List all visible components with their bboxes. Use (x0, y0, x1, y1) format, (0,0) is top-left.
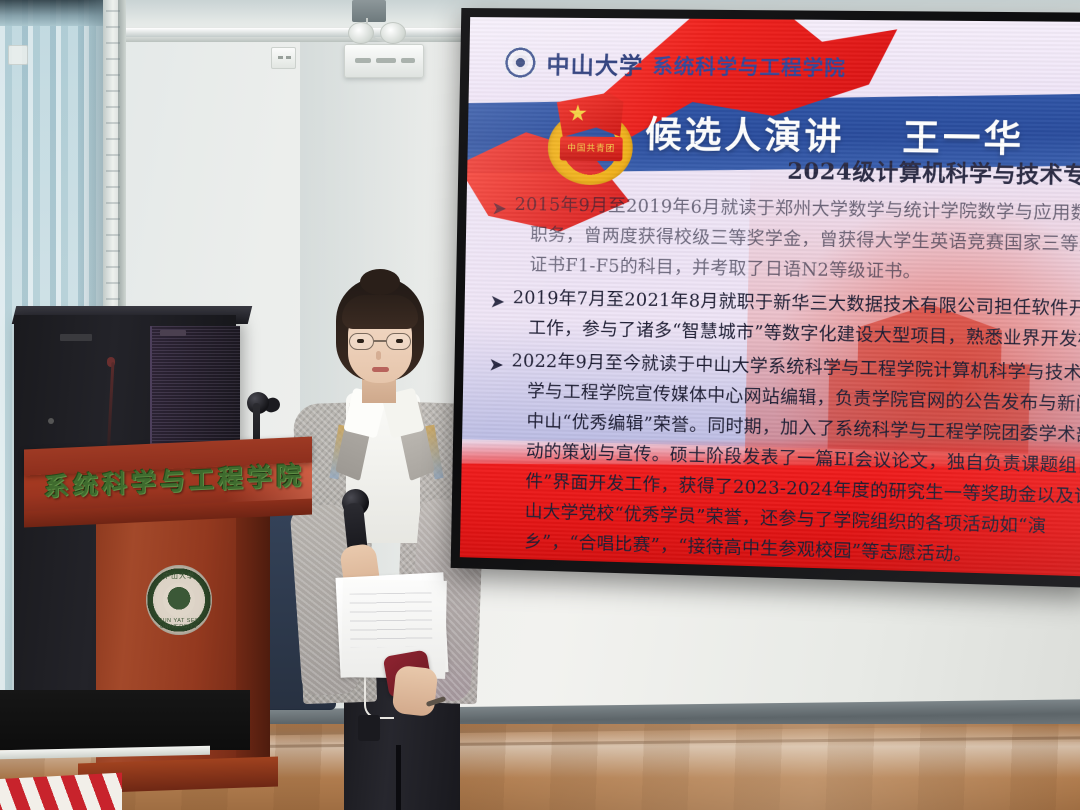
presentation-display[interactable]: 中山大学 系统科学与工程学院 中国共青团 候选人演讲 王一华 2024级计算机科… (451, 8, 1080, 588)
nose (376, 351, 381, 360)
emergency-lamp-head-left-icon (348, 22, 374, 44)
sysu-seal-icon (503, 45, 538, 79)
display-bezel: 中山大学 系统科学与工程学院 中国共青团 候选人演讲 王一华 2024级计算机科… (451, 8, 1080, 588)
podium-university-seal-icon: 中山大學 SUN YAT SEN UNIVERSITY (146, 565, 212, 635)
emergency-lamp-head-right-icon (380, 22, 406, 44)
slide-bullet-list: ➤2015年9月至2019年6月就读于郑州大学数学与统计学院数学与应用数学专业，… (482, 189, 1080, 570)
trouser-seam (396, 745, 401, 810)
hair-fringe (342, 295, 418, 329)
hand-holding-phone (392, 665, 439, 717)
power-socket-icon[interactable] (271, 47, 296, 69)
script-paper-text-lines (350, 592, 433, 647)
bullet-arrow-icon: ➤ (490, 287, 504, 317)
equipment-rack-badge-secondary (160, 330, 186, 336)
eye-left (357, 339, 364, 343)
door-frame-marks (106, 10, 120, 310)
slide-bullet-1: ➤2015年9月至2019年6月就读于郑州大学数学与统计学院数学与应用数学专业，… (487, 189, 1080, 290)
power-socket-secondary-icon[interactable] (8, 45, 28, 65)
slide-bullet-3: ➤2022年9月至今就读于中山大学系统科学与工程学院计算机科学与技术专业，在研学… (482, 346, 1080, 575)
youth-league-band-text: 中国共青团 (560, 136, 623, 161)
left-dark-base (0, 690, 250, 750)
slide: 中山大学 系统科学与工程学院 中国共青团 候选人演讲 王一华 2024级计算机科… (460, 17, 1080, 576)
emergency-light-icon (344, 44, 424, 78)
hair-bun (360, 269, 400, 295)
youth-league-emblem-icon: 中国共青团 (541, 86, 640, 188)
equipment-rack-badge (60, 334, 92, 341)
bullet-arrow-icon: ➤ (489, 350, 503, 380)
equipment-rack-knob[interactable] (48, 418, 54, 424)
photo-scene: 中山大學 SUN YAT SEN UNIVERSITY 系统科学与工程学院 (0, 0, 1080, 810)
eye-right (396, 339, 403, 343)
badge-holder (358, 715, 380, 741)
podium-seal-en-text: SUN YAT SEN UNIVERSITY (146, 618, 212, 630)
display-screen: 中山大学 系统科学与工程学院 中国共青团 候选人演讲 王一华 2024级计算机科… (460, 17, 1080, 576)
slide-subtitle: 2024级计算机科学与技术专业博士研 (787, 153, 1080, 190)
slide-logo: 中山大学 系统科学与工程学院 (503, 45, 846, 83)
red-white-striped-object (0, 773, 122, 810)
bullet-arrow-icon: ➤ (492, 194, 506, 224)
slide-title: 候选人演讲 (645, 105, 845, 160)
slide-bullet-2: ➤2019年7月至2021年8月就职于新华三大数据技术有限公司担任软件开发工程师… (486, 283, 1080, 356)
slide-school-name: 系统科学与工程学院 (652, 49, 846, 80)
mouth (372, 367, 389, 372)
slide-university-name: 中山大学 (546, 46, 644, 81)
podium-seal-cn-text: 中山大學 (146, 571, 212, 581)
